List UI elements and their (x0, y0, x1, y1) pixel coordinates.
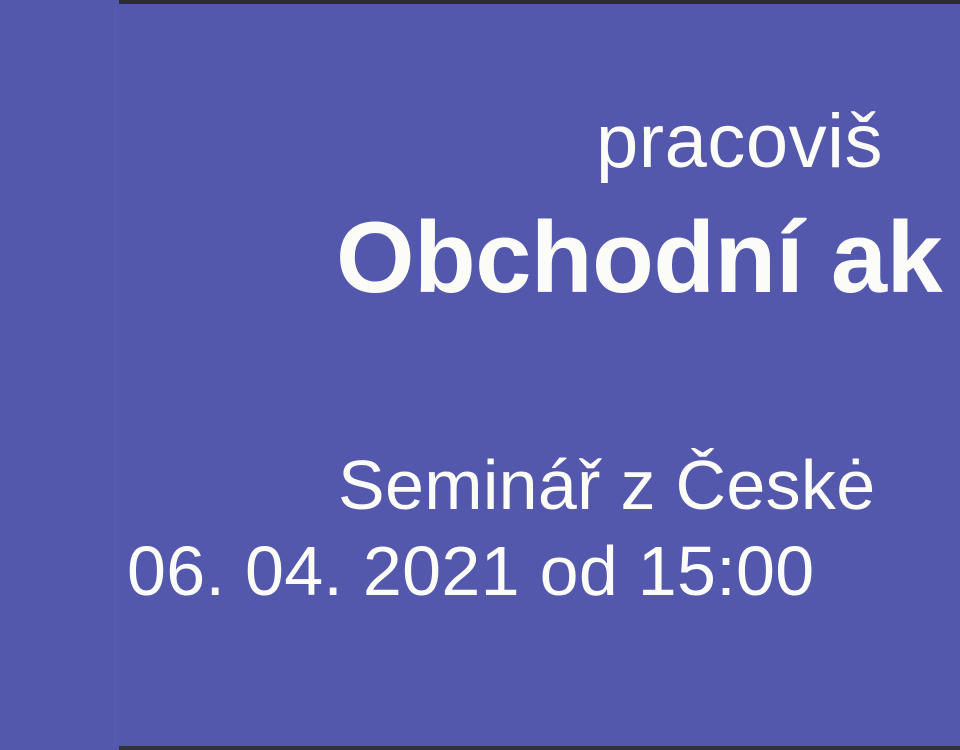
slide-line-subtitle: Seminář z Českė (338, 450, 875, 520)
slide-bottom-edge-rule (119, 746, 960, 750)
slide-line-datetime: 06. 04. 2021 od 15:00 (127, 536, 814, 606)
slide-viewport: pracoviš Obchodní ak Seminář z Českė 06.… (0, 0, 960, 750)
slide-line-title: Obchodní ak (336, 208, 942, 309)
slide-line-institute: pracoviš (596, 104, 883, 180)
slide-text-block: pracoviš Obchodní ak Seminář z Českė 06.… (0, 0, 960, 750)
